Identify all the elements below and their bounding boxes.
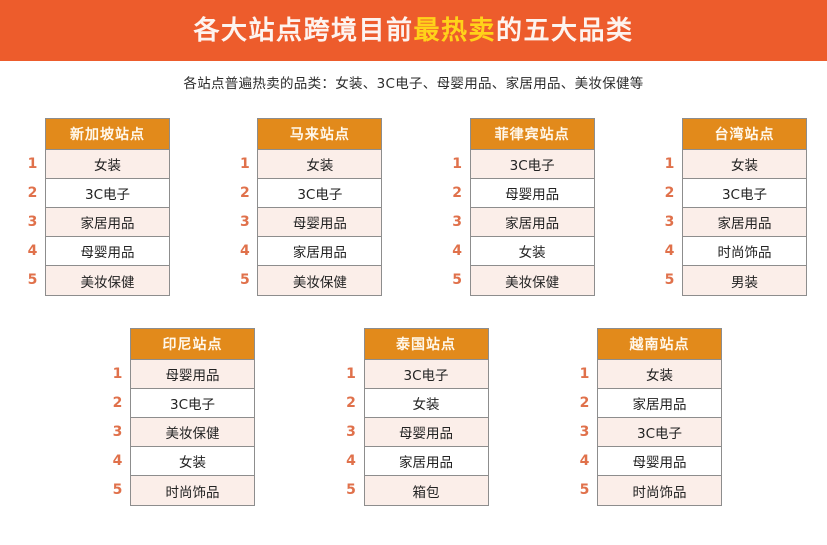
site-card-row-bottom: 1 2 3 4 5 印尼站点 母婴用品 3C电子 美妆保健 女装 时尚饰品 1 …: [105, 328, 722, 506]
rank-1: 1: [339, 360, 364, 389]
category-row: 3C电子: [683, 179, 806, 208]
category-row: 时尚饰品: [683, 237, 806, 266]
rank-column: 1 2 3 4 5: [339, 328, 364, 505]
card-body: 台湾站点 女装 3C电子 家居用品 时尚饰品 男装: [682, 118, 807, 296]
card-title: 泰国站点: [364, 328, 489, 360]
category-row: 家居用品: [598, 389, 721, 418]
site-card-philippines[interactable]: 1 2 3 4 5 菲律宾站点 3C电子 母婴用品 家居用品 女装 美妆保健: [445, 118, 595, 296]
category-row: 3C电子: [131, 389, 254, 418]
rank-3: 3: [445, 208, 470, 237]
category-row: 家居用品: [683, 208, 806, 237]
rank-column: 1 2 3 4 5: [20, 118, 45, 295]
category-row: 时尚饰品: [131, 476, 254, 505]
rank-1: 1: [657, 150, 682, 179]
category-row: 男装: [683, 266, 806, 295]
category-row: 母婴用品: [365, 418, 488, 447]
rank-4: 4: [232, 237, 257, 266]
rank-2: 2: [105, 389, 130, 418]
rank-5: 5: [339, 476, 364, 505]
rank-3: 3: [657, 208, 682, 237]
site-card-malaysia[interactable]: 1 2 3 4 5 马来站点 女装 3C电子 母婴用品 家居用品 美妆保健: [232, 118, 382, 296]
rank-5: 5: [232, 266, 257, 295]
rank-2: 2: [232, 179, 257, 208]
rank-2: 2: [339, 389, 364, 418]
rank-1: 1: [445, 150, 470, 179]
category-row: 时尚饰品: [598, 476, 721, 505]
category-row: 女装: [365, 389, 488, 418]
category-row: 美妆保健: [471, 266, 594, 295]
category-row: 美妆保健: [258, 266, 381, 295]
rank-2: 2: [445, 179, 470, 208]
category-row: 女装: [258, 150, 381, 179]
category-row: 箱包: [365, 476, 488, 505]
category-row: 母婴用品: [471, 179, 594, 208]
category-row: 母婴用品: [258, 208, 381, 237]
category-row: 3C电子: [365, 360, 488, 389]
card-body: 新加坡站点 女装 3C电子 家居用品 母婴用品 美妆保健: [45, 118, 170, 296]
site-card-singapore[interactable]: 1 2 3 4 5 新加坡站点 女装 3C电子 家居用品 母婴用品 美妆保健: [20, 118, 170, 296]
rank-column: 1 2 3 4 5: [232, 118, 257, 295]
card-title: 马来站点: [257, 118, 382, 150]
category-row: 美妆保健: [46, 266, 169, 295]
category-row: 美妆保健: [131, 418, 254, 447]
rank-1: 1: [20, 150, 45, 179]
rank-4: 4: [445, 237, 470, 266]
rank-1: 1: [105, 360, 130, 389]
page-title: 各大站点跨境目前最热卖的五大品类: [193, 18, 633, 44]
category-row: 3C电子: [46, 179, 169, 208]
rank-column: 1 2 3 4 5: [657, 118, 682, 295]
card-body: 越南站点 女装 家居用品 3C电子 母婴用品 时尚饰品: [597, 328, 722, 506]
infographic-page: 各大站点跨境目前最热卖的五大品类 各站点普遍热卖的品类：女装、3C电子、母婴用品…: [0, 0, 827, 545]
category-row: 3C电子: [598, 418, 721, 447]
card-body: 菲律宾站点 3C电子 母婴用品 家居用品 女装 美妆保健: [470, 118, 595, 296]
rank-5: 5: [445, 266, 470, 295]
category-row: 家居用品: [46, 208, 169, 237]
category-row: 家居用品: [365, 447, 488, 476]
rank-3: 3: [232, 208, 257, 237]
category-row: 母婴用品: [598, 447, 721, 476]
subtitle-text: 各站点普遍热卖的品类：女装、3C电子、母婴用品、家居用品、美妆保健等: [0, 72, 827, 92]
card-body: 马来站点 女装 3C电子 母婴用品 家居用品 美妆保健: [257, 118, 382, 296]
category-row: 女装: [131, 447, 254, 476]
category-row: 女装: [598, 360, 721, 389]
card-title: 越南站点: [597, 328, 722, 360]
rank-3: 3: [339, 418, 364, 447]
rank-1: 1: [232, 150, 257, 179]
rank-5: 5: [20, 266, 45, 295]
rank-5: 5: [105, 476, 130, 505]
site-card-row-top: 1 2 3 4 5 新加坡站点 女装 3C电子 家居用品 母婴用品 美妆保健 1…: [20, 118, 807, 296]
header-banner: 各大站点跨境目前最热卖的五大品类: [0, 0, 827, 61]
rank-4: 4: [339, 447, 364, 476]
rank-column: 1 2 3 4 5: [445, 118, 470, 295]
rank-column: 1 2 3 4 5: [105, 328, 130, 505]
rank-2: 2: [657, 179, 682, 208]
category-row: 女装: [683, 150, 806, 179]
rank-2: 2: [20, 179, 45, 208]
card-title: 新加坡站点: [45, 118, 170, 150]
rank-3: 3: [105, 418, 130, 447]
rank-1: 1: [572, 360, 597, 389]
page-title-highlight: 最热卖: [413, 16, 496, 46]
rank-5: 5: [657, 266, 682, 295]
category-row: 女装: [471, 237, 594, 266]
category-row: 母婴用品: [46, 237, 169, 266]
rank-3: 3: [572, 418, 597, 447]
category-row: 3C电子: [258, 179, 381, 208]
rank-4: 4: [572, 447, 597, 476]
rank-5: 5: [572, 476, 597, 505]
rank-4: 4: [105, 447, 130, 476]
card-body: 印尼站点 母婴用品 3C电子 美妆保健 女装 时尚饰品: [130, 328, 255, 506]
page-title-suffix: 的五大品类: [496, 16, 634, 46]
rank-4: 4: [657, 237, 682, 266]
rank-2: 2: [572, 389, 597, 418]
site-card-thailand[interactable]: 1 2 3 4 5 泰国站点 3C电子 女装 母婴用品 家居用品 箱包: [339, 328, 489, 506]
category-row: 母婴用品: [131, 360, 254, 389]
site-card-vietnam[interactable]: 1 2 3 4 5 越南站点 女装 家居用品 3C电子 母婴用品 时尚饰品: [572, 328, 722, 506]
rank-3: 3: [20, 208, 45, 237]
card-title: 印尼站点: [130, 328, 255, 360]
card-title: 菲律宾站点: [470, 118, 595, 150]
page-title-prefix: 各大站点跨境目前: [193, 16, 413, 46]
rank-column: 1 2 3 4 5: [572, 328, 597, 505]
category-row: 3C电子: [471, 150, 594, 179]
rank-4: 4: [20, 237, 45, 266]
category-row: 家居用品: [471, 208, 594, 237]
site-card-indonesia[interactable]: 1 2 3 4 5 印尼站点 母婴用品 3C电子 美妆保健 女装 时尚饰品: [105, 328, 255, 506]
category-row: 家居用品: [258, 237, 381, 266]
card-title: 台湾站点: [682, 118, 807, 150]
category-row: 女装: [46, 150, 169, 179]
card-body: 泰国站点 3C电子 女装 母婴用品 家居用品 箱包: [364, 328, 489, 506]
site-card-taiwan[interactable]: 1 2 3 4 5 台湾站点 女装 3C电子 家居用品 时尚饰品 男装: [657, 118, 807, 296]
